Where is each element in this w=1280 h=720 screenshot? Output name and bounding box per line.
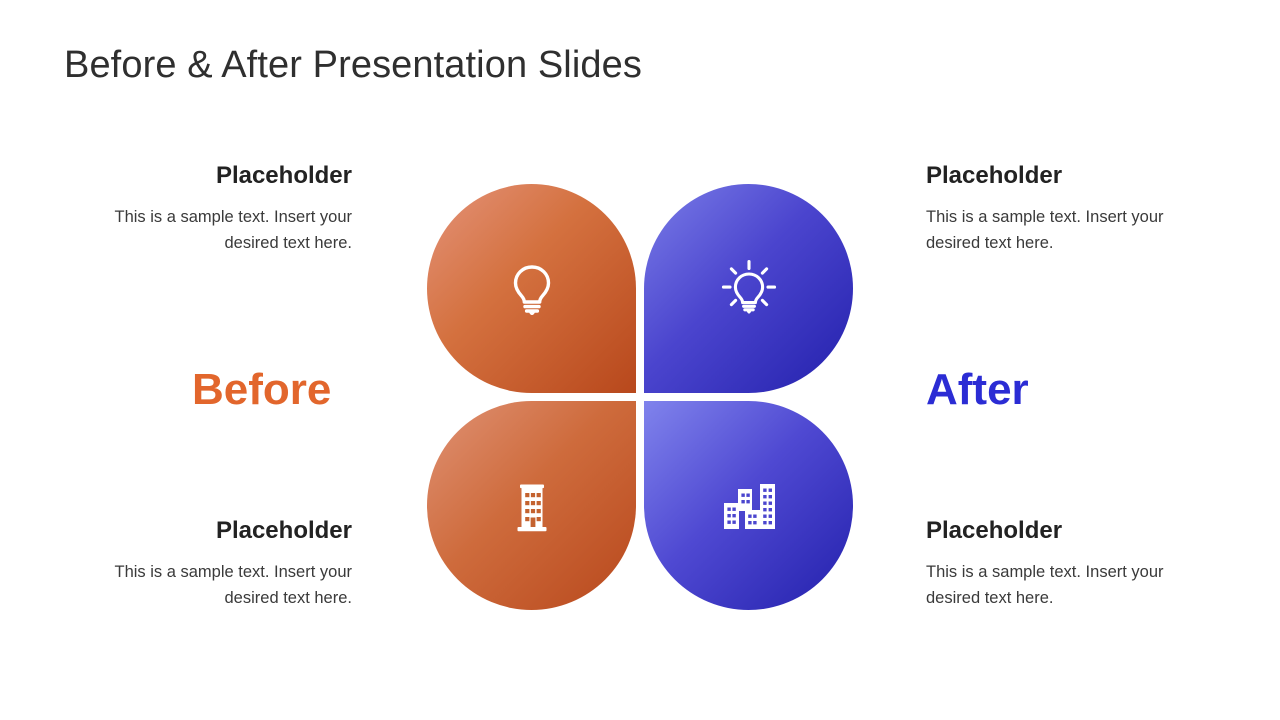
petal-top-left-before[interactable] (427, 184, 636, 393)
placeholder-heading: Placeholder (926, 163, 1166, 189)
petal-bottom-right-after[interactable] (644, 401, 853, 610)
before-label: Before (192, 368, 331, 412)
text-block-top-right: Placeholder This is a sample text. Inser… (926, 163, 1166, 257)
lightbulb-outline-icon (500, 257, 564, 321)
placeholder-body: This is a sample text. Insert your desir… (112, 205, 352, 256)
placeholder-heading: Placeholder (926, 518, 1166, 544)
lightbulb-shining-icon (717, 257, 781, 321)
text-block-bottom-left: Placeholder This is a sample text. Inser… (112, 518, 352, 612)
placeholder-heading: Placeholder (112, 163, 352, 189)
placeholder-body: This is a sample text. Insert your desir… (926, 560, 1166, 611)
single-building-icon (500, 474, 564, 538)
petal-cluster (427, 184, 853, 610)
petal-top-right-after[interactable] (644, 184, 853, 393)
placeholder-body: This is a sample text. Insert your desir… (926, 205, 1166, 256)
page-title: Before & After Presentation Slides (64, 44, 642, 87)
after-label: After (926, 368, 1029, 412)
petal-bottom-left-before[interactable] (427, 401, 636, 610)
placeholder-heading: Placeholder (112, 518, 352, 544)
text-block-top-left: Placeholder This is a sample text. Inser… (112, 163, 352, 257)
city-buildings-icon (717, 474, 781, 538)
text-block-bottom-right: Placeholder This is a sample text. Inser… (926, 518, 1166, 612)
placeholder-body: This is a sample text. Insert your desir… (112, 560, 352, 611)
